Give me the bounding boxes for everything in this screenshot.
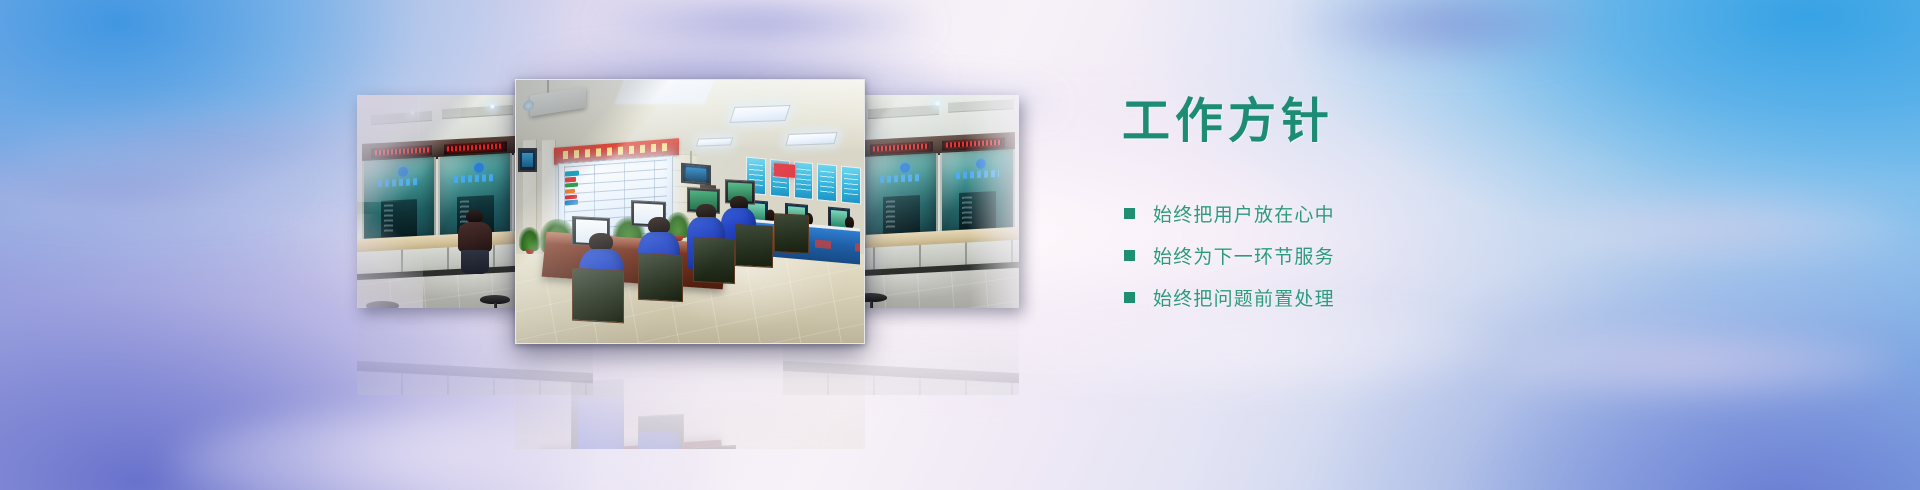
- ceiling-light-panel-icon: [729, 105, 790, 123]
- scene-dispatch-control-room: [516, 80, 864, 343]
- wall-notice-boards: [746, 156, 861, 204]
- policy-text: 始终把问题前置处理: [1153, 284, 1335, 311]
- list-item: 始终把问题前置处理: [1122, 277, 1682, 319]
- bar-stool-icon: [366, 301, 399, 308]
- ceiling-downlight-icon: [489, 104, 496, 109]
- bar-stool-icon: [480, 295, 511, 304]
- ceiling-light-panel-icon: [786, 132, 838, 146]
- policy-list: 始终把用户放在心中 始终为下一环节服务 始终把问题前置处理: [1122, 193, 1682, 319]
- photo-collage: [357, 94, 1019, 360]
- square-bullet-icon: [1124, 292, 1135, 303]
- seated-customer: [456, 210, 494, 274]
- square-bullet-icon: [1124, 208, 1135, 219]
- ceiling-monitor-icon: [518, 148, 537, 172]
- ceiling-downlight-icon: [409, 110, 416, 115]
- page-title: 工作方针: [1122, 96, 1682, 149]
- policy-text: 始终把用户放在心中: [1153, 200, 1335, 227]
- photo-dispatch-control-center[interactable]: [515, 79, 865, 344]
- work-policy-banner: 工作方针 始终把用户放在心中 始终为下一环节服务 始终把问题前置处理: [0, 0, 1920, 490]
- policy-text: 始终为下一环节服务: [1153, 242, 1335, 269]
- square-bullet-icon: [1124, 250, 1135, 261]
- list-item: 始终把用户放在心中: [1122, 193, 1682, 235]
- list-item: 始终为下一环节服务: [1122, 235, 1682, 277]
- ceiling-monitor-icon: [681, 163, 711, 185]
- banner-text-block: 工作方针 始终把用户放在心中 始终为下一环节服务 始终把问题前置处理: [1122, 96, 1682, 319]
- ceiling-light-panel-icon: [696, 137, 733, 147]
